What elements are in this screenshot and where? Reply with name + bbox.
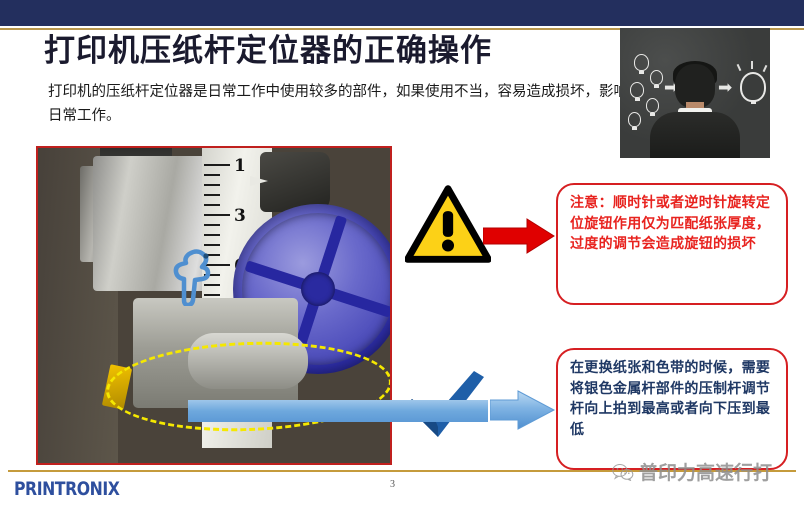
procedure-callout-text: 在更换纸张和色带的时候，需要将银色金属杆部件的压制杆调节杆向上拍到最高或者向下压…: [570, 358, 776, 440]
blue-arrow-tail: [188, 400, 488, 422]
red-arrow-icon: [483, 218, 555, 254]
warning-triangle-icon: [405, 185, 491, 263]
chalkboard-photo: ➡ ➡: [620, 28, 770, 158]
wechat-icon: [612, 463, 634, 481]
lightbulb-doodle: [628, 112, 641, 127]
body-paragraph: 打印机的压纸杆定位器是日常工作中使用较多的部件，如果使用不当，容易造成损坏，影响…: [48, 80, 633, 128]
scale-tick: [204, 234, 220, 236]
procedure-callout-box: 在更换纸张和色带的时候，需要将银色金属杆部件的压制杆调节杆向上拍到最高或者向下压…: [556, 348, 788, 470]
scale-tick: [204, 224, 220, 226]
scale-tick: [204, 164, 230, 166]
scale-tick: [204, 244, 220, 246]
scale-tick: [204, 194, 220, 196]
warning-callout-box: 注意：顺时针或者逆时针旋转定位旋钮作用仅为匹配纸张厚度，过度的调节会造成旋钮的损…: [556, 183, 788, 305]
lightbulb-doodle: [646, 98, 659, 113]
scale-label-1: 1: [234, 158, 246, 175]
lightbulb-doodle: [630, 82, 644, 98]
scale-tick: [204, 184, 220, 186]
lightbulb-ray: [751, 61, 753, 69]
blue-arrow-icon: [490, 390, 556, 430]
watermark-text: 普印力高速行打: [639, 458, 772, 485]
scale-pointer: [250, 176, 268, 186]
person-suit: [650, 112, 740, 158]
lightbulb-doodle: [650, 70, 663, 85]
scale-tick: [204, 174, 220, 176]
scale-label-3: 3: [234, 208, 246, 225]
slide-canvas: 打印机压纸杆定位器的正确操作 打印机的压纸杆定位器是日常工作中使用较多的部件，如…: [0, 0, 804, 505]
scale-tick: [204, 204, 220, 206]
page-number: 3: [390, 479, 395, 490]
warning-callout-text: 注意：顺时针或者逆时针旋转定位旋钮作用仅为匹配纸张厚度，过度的调节会造成旋钮的损…: [570, 193, 776, 255]
lightbulb-doodle-large: [740, 72, 766, 102]
scale-tick: [204, 214, 230, 216]
top-banner: [0, 0, 804, 26]
knob-hub: [301, 272, 335, 306]
page-title: 打印机压纸杆定位器的正确操作: [44, 25, 604, 70]
watermark: 普印力高速行打: [612, 458, 772, 485]
blue-lever-outline-marker: [173, 248, 221, 306]
lightbulb-doodle: [634, 54, 649, 71]
photo-black-cap: [260, 152, 330, 212]
printronix-logo: PRINTRONIX: [14, 478, 119, 500]
chalk-arrow-doodle: ➡: [718, 80, 732, 97]
